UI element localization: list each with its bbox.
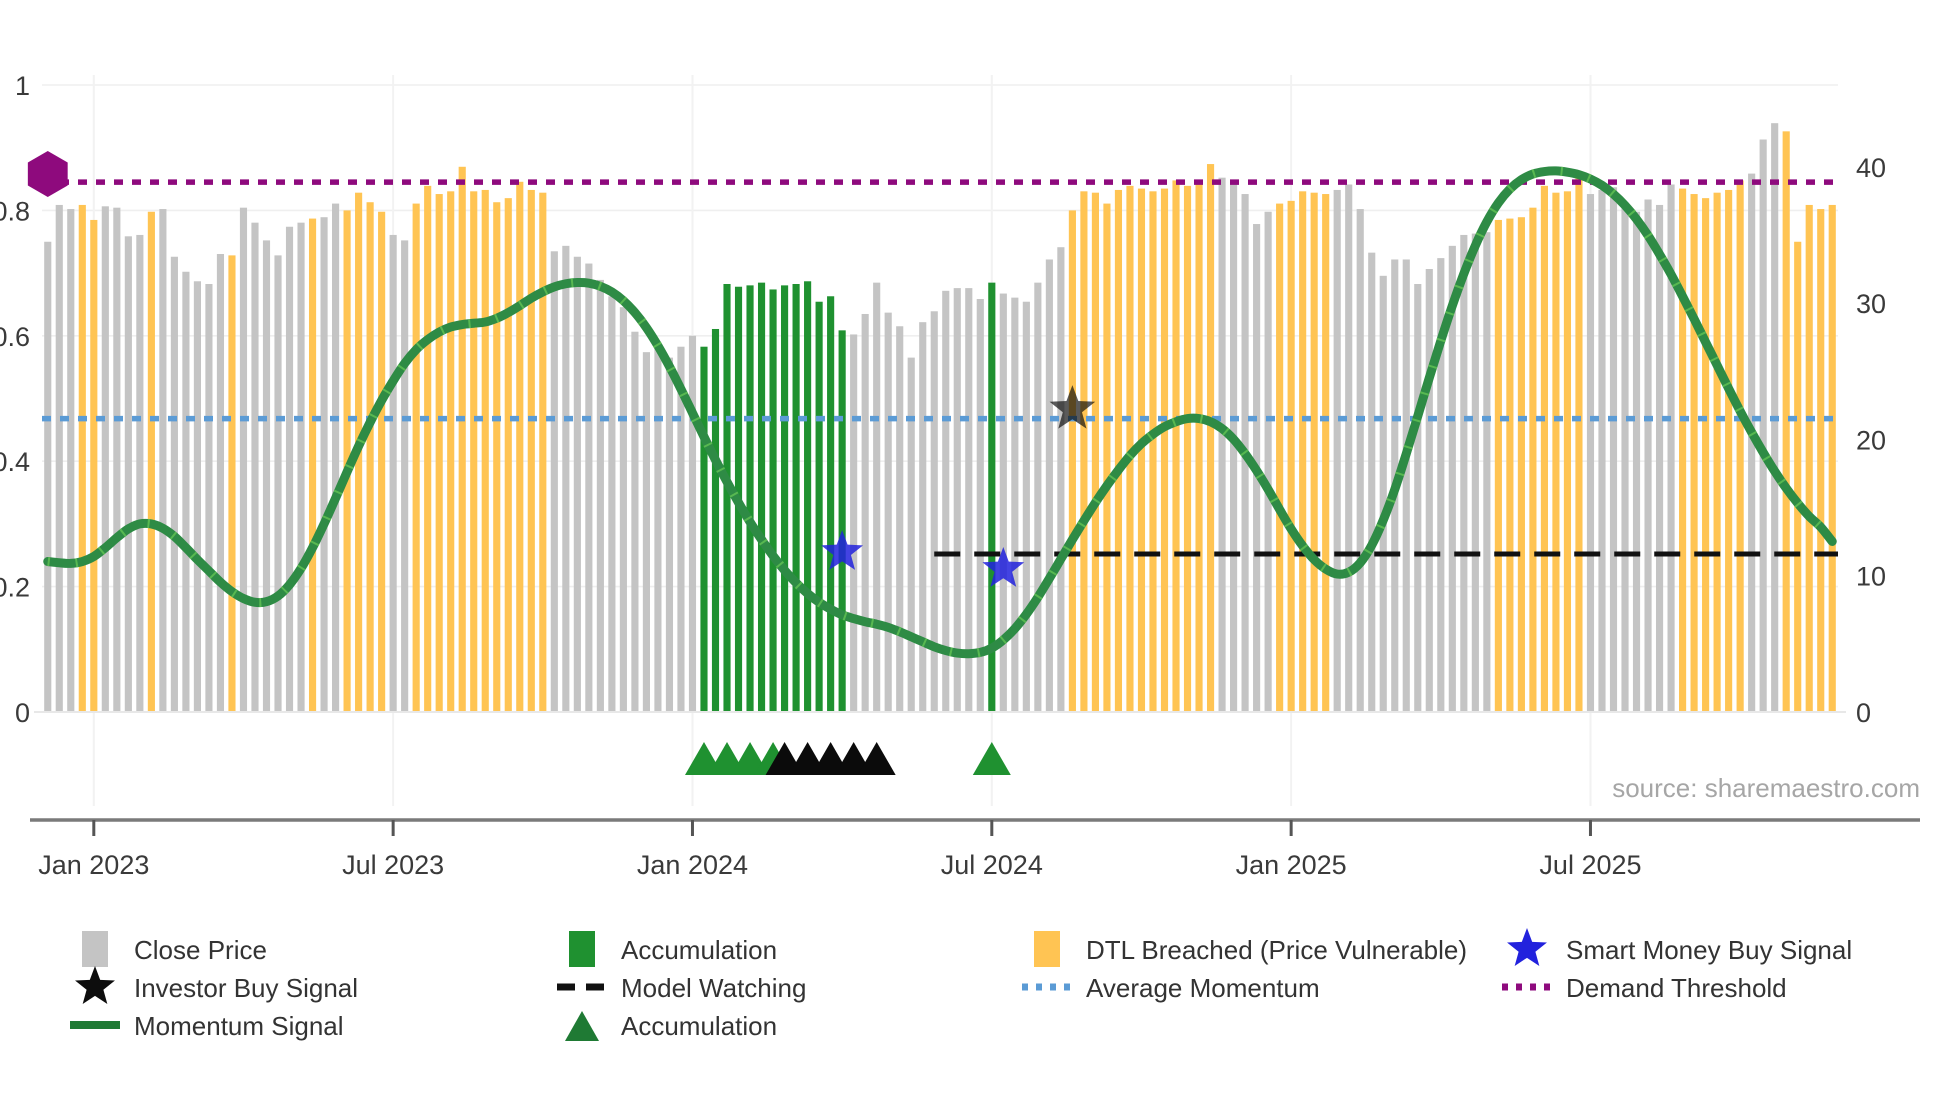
bar-close-price bbox=[1265, 212, 1272, 712]
left-axis-tick-label: 0.2 bbox=[0, 573, 30, 603]
bar-close-price bbox=[1598, 190, 1605, 712]
bar-close-price bbox=[251, 223, 258, 712]
bar-accumulation bbox=[839, 330, 846, 712]
bar-dtl-breached bbox=[1495, 220, 1502, 712]
legend-close-price-swatch-icon bbox=[82, 931, 108, 967]
bar-accumulation bbox=[758, 283, 765, 712]
bar-close-price bbox=[44, 242, 51, 712]
legend-demand-threshold[interactable]: Demand Threshold bbox=[1502, 966, 1934, 1006]
legend-smart-money-buy-signal-label: Smart Money Buy Signal bbox=[1566, 935, 1852, 965]
x-axis-tick-label: Jan 2025 bbox=[1236, 850, 1347, 880]
x-axis-tick-label: Jul 2024 bbox=[941, 850, 1043, 880]
left-axis-tick-label: 0 bbox=[15, 698, 30, 728]
bar-dtl-breached bbox=[1714, 193, 1721, 712]
bar-close-price bbox=[965, 288, 972, 712]
bar-close-price bbox=[1610, 187, 1617, 712]
bar-close-price bbox=[240, 208, 247, 712]
bar-close-price bbox=[182, 272, 189, 712]
bar-dtl-breached bbox=[1783, 131, 1790, 712]
bar-dtl-breached bbox=[1794, 242, 1801, 712]
bar-close-price bbox=[1644, 199, 1651, 712]
bar-dtl-breached bbox=[436, 194, 443, 712]
bar-accumulation bbox=[816, 302, 823, 712]
bar-close-price bbox=[1023, 302, 1030, 712]
bar-accumulation bbox=[746, 285, 753, 712]
bar-close-price bbox=[608, 296, 615, 712]
bar-close-price bbox=[205, 284, 212, 712]
bar-dtl-breached bbox=[1725, 190, 1732, 712]
bar-close-price bbox=[194, 281, 201, 712]
bar-dtl-breached bbox=[1322, 194, 1329, 712]
demand-threshold-start-marker bbox=[28, 151, 68, 197]
accumulation-triangle-row bbox=[685, 742, 1011, 775]
bar-close-price bbox=[102, 206, 109, 712]
legend-model-watching[interactable]: Model Watching bbox=[557, 966, 989, 1006]
legend-dtl-breached-label: DTL Breached (Price Vulnerable) bbox=[1086, 935, 1467, 965]
left-axis-tick-label: 0.4 bbox=[0, 447, 30, 477]
legend-momentum-signal-label: Momentum Signal bbox=[134, 1011, 344, 1041]
bar-close-price bbox=[585, 264, 592, 712]
bar-close-price bbox=[332, 204, 339, 712]
bar-close-price bbox=[1403, 259, 1410, 712]
bar-dtl-breached bbox=[1702, 198, 1709, 712]
bar-dtl-breached bbox=[378, 212, 385, 712]
bar-close-price bbox=[574, 257, 581, 712]
bar-dtl-breached bbox=[1115, 190, 1122, 712]
bar-accumulation bbox=[781, 285, 788, 712]
legend-accumulation-bar[interactable]: Accumulation bbox=[559, 928, 989, 968]
bar-close-price bbox=[1472, 234, 1479, 712]
bar-dtl-breached bbox=[516, 182, 523, 712]
bar-close-price bbox=[1034, 283, 1041, 712]
bar-close-price bbox=[136, 235, 143, 712]
bar-close-price bbox=[620, 307, 627, 712]
bar-close-price bbox=[1057, 247, 1064, 712]
bar-dtl-breached bbox=[1817, 209, 1824, 712]
bar-dtl-breached bbox=[1679, 189, 1686, 712]
bar-close-price bbox=[1345, 185, 1352, 712]
x-axis-tick-label: Jul 2025 bbox=[1539, 850, 1641, 880]
bar-close-price bbox=[1218, 178, 1225, 712]
bar-close-price bbox=[862, 314, 869, 712]
bar-dtl-breached bbox=[1552, 193, 1559, 712]
bar-dtl-breached bbox=[367, 202, 374, 712]
bar-close-price bbox=[1587, 194, 1594, 712]
bar-dtl-breached bbox=[148, 212, 155, 712]
legend-investor-buy-signal[interactable]: Investor Buy Signal bbox=[72, 966, 502, 1006]
bar-dtl-breached bbox=[1103, 204, 1110, 712]
chart-page: Jan 2023Jul 2023Jan 2024Jul 2024Jan 2025… bbox=[0, 0, 1960, 1102]
bar-dtl-breached bbox=[1092, 193, 1099, 712]
legend-average-momentum-label: Average Momentum bbox=[1086, 973, 1320, 1003]
bar-close-price bbox=[113, 208, 120, 712]
bar-close-price bbox=[286, 227, 293, 712]
bar-dtl-breached bbox=[1575, 175, 1582, 712]
bar-dtl-breached bbox=[1161, 189, 1168, 712]
bar-close-price bbox=[631, 332, 638, 712]
bar-close-price bbox=[320, 217, 327, 712]
bar-dtl-breached bbox=[1806, 205, 1813, 712]
right-axis-tick-label: 40 bbox=[1856, 153, 1886, 183]
right-axis-tick-label: 20 bbox=[1856, 425, 1886, 455]
right-axis-tick-label: 0 bbox=[1856, 698, 1871, 728]
bar-close-price bbox=[1621, 206, 1628, 712]
legend-investor-buy-signal-label: Investor Buy Signal bbox=[134, 973, 358, 1003]
bar-dtl-breached bbox=[1518, 217, 1525, 712]
bar-close-price bbox=[1000, 294, 1007, 712]
legend-accumulation-bar-swatch-icon bbox=[569, 931, 595, 967]
legend-accumulation-triangle[interactable]: Accumulation bbox=[559, 1004, 989, 1044]
bar-close-price bbox=[896, 326, 903, 712]
bar-close-price bbox=[125, 236, 132, 712]
bar-close-price bbox=[850, 334, 857, 712]
bar-close-price bbox=[1460, 235, 1467, 712]
bar-close-price bbox=[1656, 205, 1663, 712]
bar-dtl-breached bbox=[1829, 205, 1836, 712]
bar-close-price bbox=[1368, 253, 1375, 712]
bar-close-price bbox=[56, 205, 63, 712]
bar-dtl-breached bbox=[505, 198, 512, 712]
bar-close-price bbox=[597, 280, 604, 712]
bar-close-price bbox=[643, 352, 650, 712]
bar-close-price bbox=[1426, 269, 1433, 712]
bar-accumulation bbox=[769, 289, 776, 712]
bar-accumulation bbox=[723, 284, 730, 712]
bar-close-price bbox=[919, 322, 926, 712]
bar-close-price bbox=[1760, 140, 1767, 712]
bar-dtl-breached bbox=[1149, 191, 1156, 712]
right-axis-tick-label: 10 bbox=[1856, 562, 1886, 592]
bar-dtl-breached bbox=[79, 205, 86, 712]
legend-model-watching-label: Model Watching bbox=[621, 973, 806, 1003]
bar-accumulation bbox=[827, 296, 834, 712]
bar-dtl-breached bbox=[1172, 180, 1179, 712]
bar-close-price bbox=[1046, 259, 1053, 712]
chart-legend: Close PriceAccumulationDTL Breached (Pri… bbox=[70, 928, 1934, 1044]
bar-close-price bbox=[274, 255, 281, 712]
bar-dtl-breached bbox=[413, 204, 420, 712]
legend-accumulation-triangle-label: Accumulation bbox=[621, 1011, 777, 1041]
legend-close-price[interactable]: Close Price bbox=[72, 928, 502, 968]
bar-dtl-breached bbox=[1737, 180, 1744, 712]
bar-dtl-breached bbox=[528, 190, 535, 712]
x-axis-tick-label: Jul 2023 bbox=[342, 850, 444, 880]
bar-dtl-breached bbox=[1299, 191, 1306, 712]
legend-dtl-breached-swatch-icon bbox=[1034, 931, 1060, 967]
bar-dtl-breached bbox=[1564, 191, 1571, 712]
bar-accumulation bbox=[793, 284, 800, 712]
legend-momentum-signal[interactable]: Momentum Signal bbox=[70, 1004, 502, 1044]
bar-accumulation bbox=[804, 281, 811, 712]
bar-dtl-breached bbox=[447, 191, 454, 712]
bar-dtl-breached bbox=[1195, 183, 1202, 712]
bar-close-price bbox=[159, 209, 166, 712]
left-axis-tick-label: 1 bbox=[15, 71, 30, 101]
accumulation-triangle-black bbox=[858, 742, 896, 775]
bar-close-price bbox=[263, 240, 270, 712]
accumulation-triangle-green bbox=[973, 742, 1011, 775]
legend-average-momentum[interactable]: Average Momentum bbox=[1022, 966, 1454, 1006]
bar-close-price bbox=[171, 257, 178, 712]
bar-dtl-breached bbox=[470, 191, 477, 712]
bar-dtl-breached bbox=[1276, 204, 1283, 712]
legend-demand-threshold-label: Demand Threshold bbox=[1566, 973, 1787, 1003]
bar-dtl-breached bbox=[90, 220, 97, 712]
bar-dtl-breached bbox=[1691, 194, 1698, 712]
bar-dtl-breached bbox=[1069, 210, 1076, 712]
bar-close-price bbox=[654, 343, 661, 712]
bar-close-price bbox=[401, 240, 408, 712]
bar-close-price bbox=[885, 313, 892, 712]
legend-close-price-label: Close Price bbox=[134, 935, 267, 965]
source-note: source: sharemaestro.com bbox=[1612, 773, 1920, 803]
bar-close-price bbox=[908, 358, 915, 712]
bar-close-price bbox=[666, 358, 673, 712]
bar-dtl-breached bbox=[1288, 201, 1295, 712]
bar-dtl-breached bbox=[1080, 191, 1087, 712]
bar-close-price bbox=[551, 251, 558, 712]
bar-close-price bbox=[1334, 190, 1341, 712]
financial-momentum-chart: Jan 2023Jul 2023Jan 2024Jul 2024Jan 2025… bbox=[0, 0, 1960, 1102]
legend-dtl-breached[interactable]: DTL Breached (Price Vulnerable) bbox=[1024, 928, 1467, 968]
bar-dtl-breached bbox=[1207, 164, 1214, 712]
bar-close-price bbox=[1380, 276, 1387, 712]
bar-close-price bbox=[67, 209, 74, 712]
x-axis-tick-label: Jan 2023 bbox=[38, 850, 149, 880]
bar-close-price bbox=[1357, 209, 1364, 712]
bar-close-price bbox=[297, 223, 304, 712]
legend-smart-money-buy-signal[interactable]: Smart Money Buy Signal bbox=[1504, 928, 1934, 968]
bar-close-price bbox=[1414, 284, 1421, 712]
bar-dtl-breached bbox=[424, 186, 431, 712]
bar-close-price bbox=[390, 235, 397, 712]
legend-accumulation-bar-label: Accumulation bbox=[621, 935, 777, 965]
bar-dtl-breached bbox=[228, 255, 235, 712]
bar-close-price bbox=[689, 336, 696, 712]
bar-dtl-breached bbox=[539, 193, 546, 712]
bar-dtl-breached bbox=[1541, 186, 1548, 712]
bar-dtl-breached bbox=[1184, 186, 1191, 712]
bar-close-price bbox=[217, 254, 224, 712]
bar-close-price bbox=[873, 283, 880, 712]
bar-accumulation bbox=[700, 347, 707, 712]
bar-dtl-breached bbox=[482, 190, 489, 712]
left-axis-tick-label: 0.6 bbox=[0, 322, 30, 352]
bar-close-price bbox=[1633, 212, 1640, 712]
bar-dtl-breached bbox=[1529, 208, 1536, 712]
bar-close-price bbox=[1483, 232, 1490, 712]
bar-dtl-breached bbox=[459, 167, 466, 712]
bar-dtl-breached bbox=[1311, 193, 1318, 712]
bar-close-price bbox=[562, 246, 569, 712]
bar-dtl-breached bbox=[309, 219, 316, 712]
bar-close-price bbox=[1011, 298, 1018, 712]
right-axis-tick-label: 30 bbox=[1856, 289, 1886, 319]
bar-dtl-breached bbox=[1506, 219, 1513, 712]
x-axis-tick-label: Jan 2024 bbox=[637, 850, 748, 880]
bar-accumulation bbox=[712, 329, 719, 712]
bar-dtl-breached bbox=[493, 202, 500, 712]
left-axis-tick-label: 0.8 bbox=[0, 196, 30, 226]
